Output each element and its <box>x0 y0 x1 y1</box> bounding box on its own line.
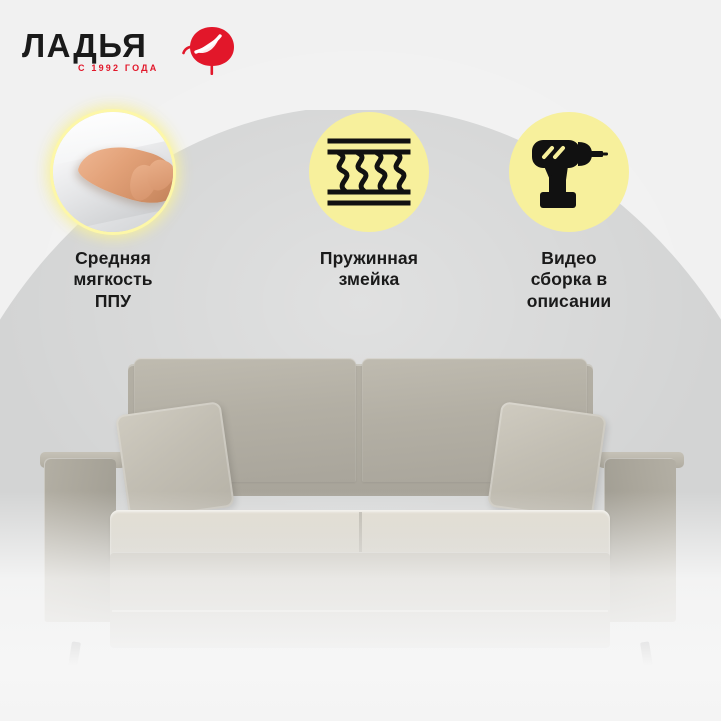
serpentine-spring-icon <box>327 132 411 212</box>
feature-label-line: Средняя <box>10 248 216 269</box>
feature-label-video-assembly: Видео сборка в описании <box>466 248 672 312</box>
feature-label-line: сборка в <box>466 269 672 290</box>
product-image-canvas: ЛАДЬЯ С 1992 ГОДА Средняя мягкость ППУ <box>0 0 721 721</box>
brand-name: ЛАДЬЯ <box>22 29 147 62</box>
feature-label-serpentine-spring: Пружинная змейка <box>266 248 472 291</box>
floor-gradient <box>0 491 721 721</box>
feature-label-line: Пружинная <box>266 248 472 269</box>
feature-label-line: Видео <box>466 248 672 269</box>
feature-serpentine-spring: Пружинная змейка <box>266 112 472 291</box>
feature-label-foam-softness: Средняя мягкость ППУ <box>10 248 216 312</box>
feature-foam-softness: Средняя мягкость ППУ <box>10 112 216 312</box>
feature-badge-circle <box>309 112 429 232</box>
hand-pressing-foam-photo-icon <box>53 112 173 232</box>
feature-label-line: мягкость <box>10 269 216 290</box>
feature-label-line: ППУ <box>10 291 216 312</box>
feature-label-line: змейка <box>266 269 472 290</box>
power-drill-icon <box>528 134 610 210</box>
ladya-sail-mark-icon <box>182 22 240 80</box>
feature-badge-circle <box>509 112 629 232</box>
feature-label-line: описании <box>466 291 672 312</box>
brand-tagline: С 1992 ГОДА <box>78 64 159 73</box>
feature-video-assembly: Видео сборка в описании <box>466 112 672 312</box>
brand-logo: ЛАДЬЯ С 1992 ГОДА <box>22 14 237 74</box>
